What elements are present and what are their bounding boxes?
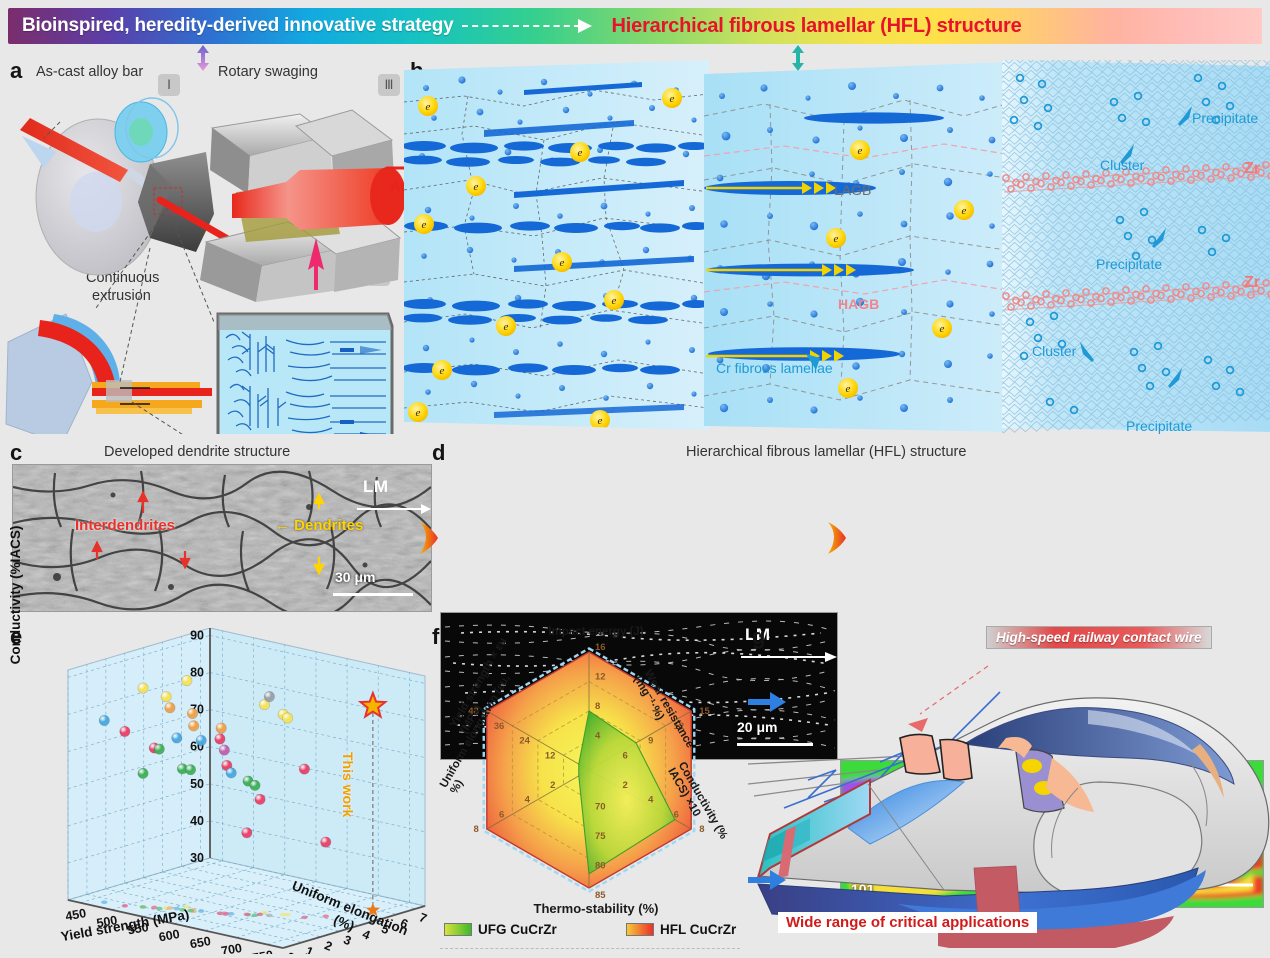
svg-text:15: 15 xyxy=(699,706,710,717)
panel-a-illustration xyxy=(0,52,410,434)
svg-text:e: e xyxy=(504,321,509,333)
svg-text:16: 16 xyxy=(595,642,606,653)
svg-text:50: 50 xyxy=(190,777,204,791)
svg-text:24: 24 xyxy=(519,736,530,747)
panel-e-zaxis-label: Conductivity (%IACS) xyxy=(8,500,23,690)
figure-root: Bioinspired, heredity-derived innovative… xyxy=(0,0,1270,958)
panel-b-label-cluster-2: Cluster xyxy=(1032,343,1076,359)
panel-b-label-cr-fibrous-lamellae: Cr fibrous lamellae xyxy=(716,360,833,376)
svg-text:4: 4 xyxy=(525,795,531,806)
panel-f-legend-ufg: UFG CuCrZr xyxy=(444,922,557,937)
svg-text:4: 4 xyxy=(648,795,654,806)
panel-g-train-illustration xyxy=(748,648,1270,948)
electron-marker: e xyxy=(932,318,952,338)
electron-marker: e xyxy=(552,252,572,272)
panel-b-label-zr-2: Zr xyxy=(1244,274,1260,292)
svg-text:4: 4 xyxy=(595,731,601,742)
banner-left-text: Bioinspired, heredity-derived innovative… xyxy=(22,15,454,37)
svg-text:2: 2 xyxy=(623,780,628,791)
svg-text:30: 30 xyxy=(190,851,204,865)
panel-e-scatter3d-chart: 3040506070809045050055060065070075001234… xyxy=(6,628,436,954)
electron-marker: e xyxy=(496,316,516,336)
svg-text:e: e xyxy=(560,257,565,269)
panel-g-arrow-top-icon xyxy=(748,690,788,714)
svg-text:6: 6 xyxy=(499,809,504,820)
svg-text:700: 700 xyxy=(220,941,243,954)
svg-text:e: e xyxy=(858,145,863,157)
electron-marker: e xyxy=(826,228,846,248)
panel-f-legend-hfl: HFL CuCrZr xyxy=(626,922,736,937)
electron-marker: e xyxy=(408,402,428,422)
svg-text:80: 80 xyxy=(595,861,606,872)
electron-marker: e xyxy=(954,200,974,220)
svg-text:2: 2 xyxy=(550,780,555,791)
panel-d-title: Hierarchical fibrous lamellar (HFL) stru… xyxy=(686,444,966,460)
electron-marker: e xyxy=(414,214,434,234)
header-banner: Bioinspired, heredity-derived innovative… xyxy=(8,8,1262,44)
svg-text:75: 75 xyxy=(595,831,606,842)
electron-marker: e xyxy=(590,410,610,430)
panel-g-arrow-bottom-icon xyxy=(748,868,788,892)
electron-marker: e xyxy=(466,176,486,196)
svg-text:3: 3 xyxy=(341,933,353,949)
panel-c-lm-label: LM xyxy=(363,477,389,497)
panel-c-letter: c xyxy=(10,440,22,466)
svg-text:e: e xyxy=(940,323,945,335)
svg-text:12: 12 xyxy=(595,672,606,683)
legend-label-ufg: UFG CuCrZr xyxy=(478,922,557,937)
electron-marker: e xyxy=(662,88,682,108)
svg-text:8: 8 xyxy=(474,824,479,835)
svg-text:750: 750 xyxy=(251,948,274,954)
panel-b-label-hagb: HAGB xyxy=(838,296,879,312)
svg-text:40: 40 xyxy=(190,814,204,828)
panel-b-label-cluster-1: Cluster xyxy=(1100,157,1144,173)
svg-text:6: 6 xyxy=(623,750,628,761)
svg-text:450: 450 xyxy=(64,906,87,923)
svg-text:9: 9 xyxy=(648,736,653,747)
panel-c-title: Developed dendrite structure xyxy=(104,444,290,460)
panel-g-caption: Wide range of critical applications xyxy=(778,912,1037,933)
svg-text:e: e xyxy=(422,219,427,231)
legend-swatch-ufg xyxy=(444,923,472,936)
svg-text:e: e xyxy=(834,233,839,245)
electron-marker: e xyxy=(838,378,858,398)
svg-text:e: e xyxy=(578,147,583,159)
panel-f-axis-label-impact: Impact energy (J) xyxy=(536,626,656,638)
electron-marker: e xyxy=(850,140,870,160)
svg-text:85: 85 xyxy=(595,890,606,901)
svg-text:e: e xyxy=(426,101,431,113)
svg-text:80: 80 xyxy=(190,666,204,680)
svg-text:1: 1 xyxy=(304,944,316,954)
svg-text:12: 12 xyxy=(545,750,556,761)
svg-text:e: e xyxy=(612,295,617,307)
panel-c-micrograph: Interdendrites ← Dendrites LM 30 μm xyxy=(12,464,432,612)
svg-text:90: 90 xyxy=(190,628,204,642)
svg-text:6: 6 xyxy=(674,809,679,820)
panel-c-scalebar xyxy=(333,593,413,596)
svg-text:e: e xyxy=(416,407,421,419)
svg-text:2: 2 xyxy=(323,938,335,954)
svg-text:e: e xyxy=(598,415,603,427)
panel-c-to-d-connector xyxy=(418,520,440,556)
electron-marker: e xyxy=(604,290,624,310)
svg-text:70: 70 xyxy=(595,802,606,813)
svg-text:e: e xyxy=(474,181,479,193)
electron-marker: e xyxy=(570,142,590,162)
svg-text:e: e xyxy=(962,205,967,217)
svg-text:7: 7 xyxy=(417,910,429,926)
panel-g-letter: g xyxy=(752,624,765,650)
banner-right-text: Hierarchical fibrous lamellar (HFL) stru… xyxy=(612,15,1022,38)
panel-b-label-precipitate-2: Precipitate xyxy=(1096,256,1162,272)
svg-text:e: e xyxy=(846,383,851,395)
electron-marker: e xyxy=(432,360,452,380)
panel-b-label-precipitate-3: Precipitate xyxy=(1126,418,1192,434)
svg-text:650: 650 xyxy=(189,934,212,951)
electron-marker: e xyxy=(418,96,438,116)
svg-text:e: e xyxy=(440,365,445,377)
panel-f-divider xyxy=(440,948,740,949)
panel-c-scale-text: 30 μm xyxy=(335,569,375,585)
panel-b-label-lagb: LAGB xyxy=(834,182,871,198)
svg-text:0: 0 xyxy=(285,949,297,954)
legend-swatch-hfl xyxy=(626,923,654,936)
panel-d-connector xyxy=(826,520,848,556)
svg-text:600: 600 xyxy=(158,927,181,944)
panel-d-letter: d xyxy=(432,440,445,466)
panel-b-label-zr-1: Zr xyxy=(1244,160,1260,178)
legend-label-hfl: HFL CuCrZr xyxy=(660,922,736,937)
panel-g-tag: High-speed railway contact wire xyxy=(986,626,1212,649)
panel-e-annotation-this-work: This work xyxy=(340,752,356,817)
svg-text:8: 8 xyxy=(595,701,600,712)
panel-b-label-precipitate-1: Precipitate xyxy=(1192,110,1258,126)
dashed-right-arrow-icon xyxy=(458,17,608,35)
svg-text:e: e xyxy=(670,93,675,105)
panel-f-axis-label-thermo: Thermo-stability (%) xyxy=(516,902,676,916)
